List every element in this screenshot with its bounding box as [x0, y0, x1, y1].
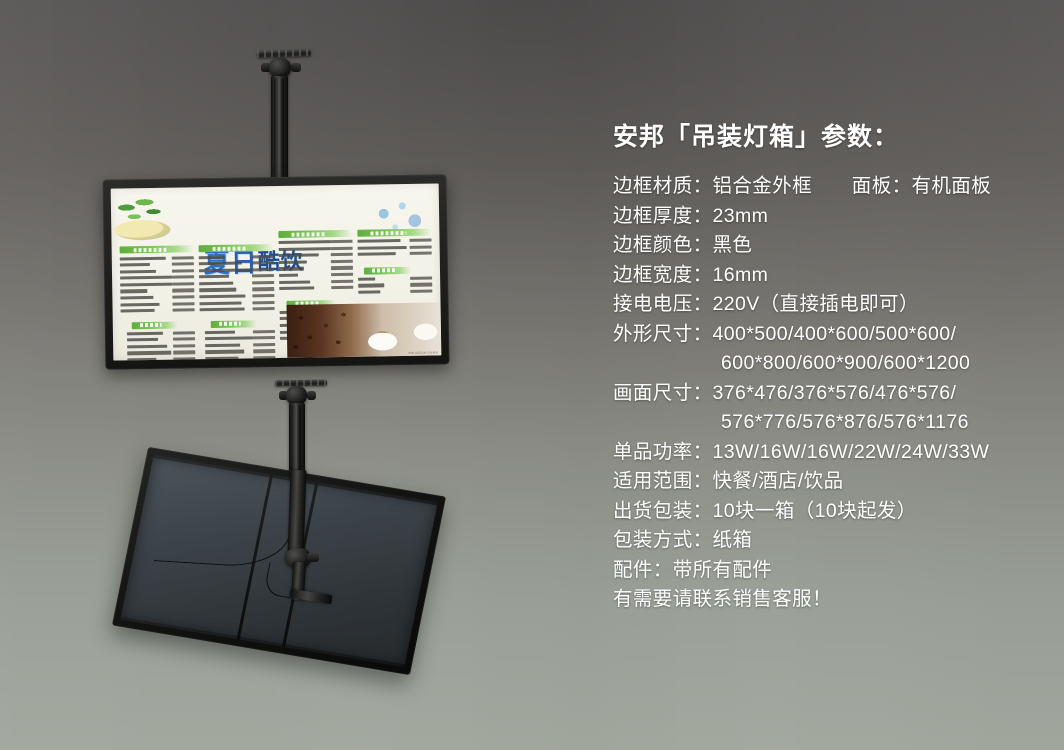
spec-line-outer-size-2: 600*800/600*900/600*1200: [613, 349, 1043, 379]
spec-line-voltage: 接电电压：220V（直接插电即可）: [613, 290, 1043, 320]
spec-line-picture-size-2: 576*776/576*876/576*1176: [613, 408, 1043, 438]
spec-line-picture-size: 画面尺寸：376*476/376*576/476*576/: [613, 379, 1043, 409]
joint-wing-right: [307, 391, 316, 400]
spec-line-frame-width: 边框宽度：16mm: [613, 261, 1043, 291]
spec-title: 安邦「吊装灯箱」参数：: [613, 122, 1043, 152]
plate-screw-holes: [275, 380, 327, 387]
spec-line-packing-method: 包装方式：纸箱: [613, 526, 1043, 556]
spec-line-accessories: 配件：带所有配件: [613, 556, 1043, 586]
spec-line-contact: 有需要请联系销售客服！: [613, 585, 1043, 615]
ceiling-plate-icon: [275, 380, 327, 387]
spec-line-power: 单品功率：13W/16W/16W/22W/24W/33W: [613, 438, 1043, 468]
spec-line-application: 适用范围：快餐/酒店/饮品: [613, 467, 1043, 497]
mount-arm-over-back-panel: [288, 470, 307, 557]
spec-line-frame-color: 边框颜色：黑色: [613, 231, 1043, 261]
spec-panel: 安邦「吊装灯箱」参数： 边框材质：铝合金外框 面板：有机面板边框厚度：23mm边…: [613, 122, 1043, 615]
tilt-joint-wing: [307, 553, 319, 562]
spec-line-shipping-package: 出货包装：10块一箱（10块起发）: [613, 497, 1043, 527]
power-cable: [154, 484, 295, 570]
spec-line-frame-material: 边框材质：铝合金外框 面板：有机面板: [613, 172, 1043, 202]
spec-line-outer-size: 外形尺寸：400*500/400*600/500*600/: [613, 320, 1043, 350]
spec-line-list: 边框材质：铝合金外框 面板：有机面板边框厚度：23mm边框颜色：黑色边框宽度：1…: [613, 172, 1043, 615]
spec-line-frame-thickness: 边框厚度：23mm: [613, 202, 1043, 232]
product-image-canvas: 夏 日 酷 饮: [0, 0, 1064, 750]
